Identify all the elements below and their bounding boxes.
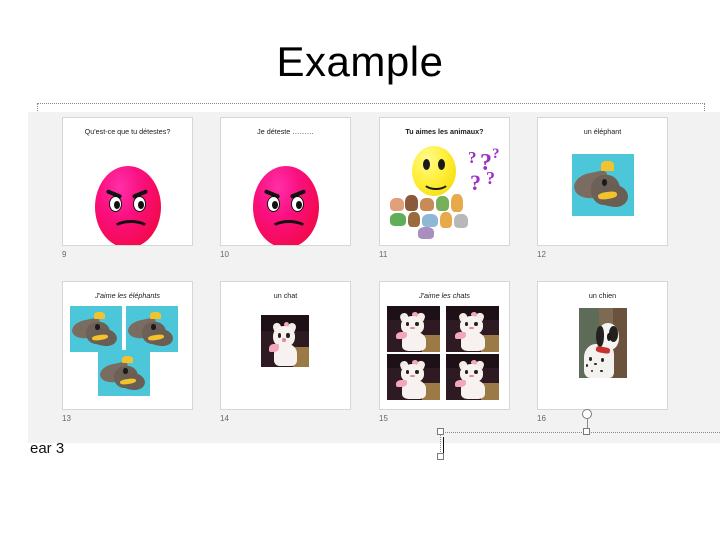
thumbnail-card-16[interactable]: un chien xyxy=(537,281,668,410)
pupil-icon xyxy=(296,201,302,209)
eye-right-icon xyxy=(291,196,304,212)
elephant-hat-icon xyxy=(601,161,613,171)
slide-number: 16 xyxy=(537,414,546,423)
slide-number: 11 xyxy=(379,250,387,259)
thumbnail-card-15[interactable]: J'aime les chats xyxy=(379,281,510,410)
thumbnail-card-9[interactable]: Qu'est-ce que tu détestes? xyxy=(62,117,193,246)
page-title: Example xyxy=(0,38,720,86)
rotation-handle[interactable] xyxy=(582,409,592,419)
thumbnail-title: Tu aimes les animaux? xyxy=(380,127,509,136)
slide-number: 12 xyxy=(537,250,546,259)
thumbnail-title: Je déteste ……… xyxy=(221,127,350,136)
slide-number: 14 xyxy=(220,414,229,423)
eye-right-icon xyxy=(415,370,419,374)
slide-number: 9 xyxy=(62,250,66,259)
angry-face-graphic xyxy=(95,166,161,246)
elephant-eye-icon xyxy=(123,368,128,374)
elephant-hat-icon xyxy=(122,356,132,363)
cat-bow-icon xyxy=(396,332,407,339)
eye-right-icon xyxy=(133,196,146,212)
eye-left-icon xyxy=(267,196,280,212)
cat-image xyxy=(446,306,499,352)
selection-outline-horizontal[interactable] xyxy=(440,432,720,433)
angry-face-graphic xyxy=(253,166,319,246)
thumbnail-title: Qu'est-ce que tu détestes? xyxy=(63,127,192,136)
elephant-eye-icon xyxy=(95,324,100,330)
eye-left-icon xyxy=(109,196,122,212)
thumbnail-title: un chat xyxy=(221,291,350,300)
rotation-handle-stem xyxy=(587,419,588,428)
question-mark-icon: ? xyxy=(468,148,477,168)
thumbnail-title: J'aime les éléphants xyxy=(63,291,192,300)
cat-image xyxy=(446,354,499,400)
elephant-eye-icon xyxy=(151,324,156,330)
eye-left-icon xyxy=(278,333,281,338)
elephant-hat-icon xyxy=(150,312,160,319)
frown-mouth-icon xyxy=(112,220,150,239)
cat-bow-icon xyxy=(455,332,466,339)
elephant-image xyxy=(98,350,150,396)
eye-right-icon xyxy=(474,322,478,326)
resize-handle-middle[interactable] xyxy=(583,428,590,435)
thumbnail-title: un chien xyxy=(538,291,667,300)
frown-mouth-icon xyxy=(270,220,308,239)
eye-right-icon xyxy=(438,159,445,170)
elephant-image xyxy=(572,154,634,216)
question-mark-icon: ? xyxy=(492,146,500,163)
question-marks-graphic: ? ? ? ? ? xyxy=(462,148,510,200)
smile-mouth-icon xyxy=(422,172,450,190)
thumbnail-card-12[interactable]: un éléphant xyxy=(537,117,668,246)
question-mark-icon: ? xyxy=(486,168,495,189)
elephant-hat-icon xyxy=(94,312,104,319)
thumbnail-title: J'aime les chats xyxy=(380,291,509,300)
cat-image xyxy=(387,354,440,400)
dog-eye-icon xyxy=(607,333,611,341)
pupil-icon xyxy=(114,201,120,209)
thumbnail-card-10[interactable]: Je déteste ……… xyxy=(220,117,351,246)
cat-bow-icon xyxy=(396,380,407,387)
slide-number: 15 xyxy=(379,414,388,423)
question-mark-icon: ? xyxy=(470,170,481,196)
slide-canvas: Example ( …. Qu'est-ce que tu détestes? … xyxy=(0,0,720,540)
cat-bow-icon xyxy=(455,380,466,387)
pupil-icon xyxy=(272,201,278,209)
dog-image xyxy=(579,308,627,378)
elephant-image xyxy=(126,306,178,352)
thumbnail-card-11[interactable]: Tu aimes les animaux? ? ? ? ? ? xyxy=(379,117,510,246)
cat-image xyxy=(261,315,309,367)
eye-right-icon xyxy=(286,333,289,338)
slide-number: 13 xyxy=(62,414,71,423)
eye-right-icon xyxy=(415,322,419,326)
eye-left-icon xyxy=(423,159,430,170)
footer-text: ear 3 xyxy=(30,440,64,457)
pupil-icon xyxy=(138,201,144,209)
thumbnail-card-13[interactable]: J'aime les éléphants xyxy=(62,281,193,410)
thumbnail-card-14[interactable]: un chat xyxy=(220,281,351,410)
text-cursor-caret xyxy=(443,437,444,453)
thumbnail-title: un éléphant xyxy=(538,127,667,136)
resize-handle-bottom[interactable] xyxy=(437,453,444,460)
animal-figures-graphic xyxy=(388,194,498,240)
cat-image xyxy=(387,306,440,352)
smiley-face-icon xyxy=(412,146,456,196)
slide-number: 10 xyxy=(220,250,229,259)
cat-nose-icon xyxy=(282,338,286,341)
eye-right-icon xyxy=(474,370,478,374)
elephant-image xyxy=(70,306,122,352)
